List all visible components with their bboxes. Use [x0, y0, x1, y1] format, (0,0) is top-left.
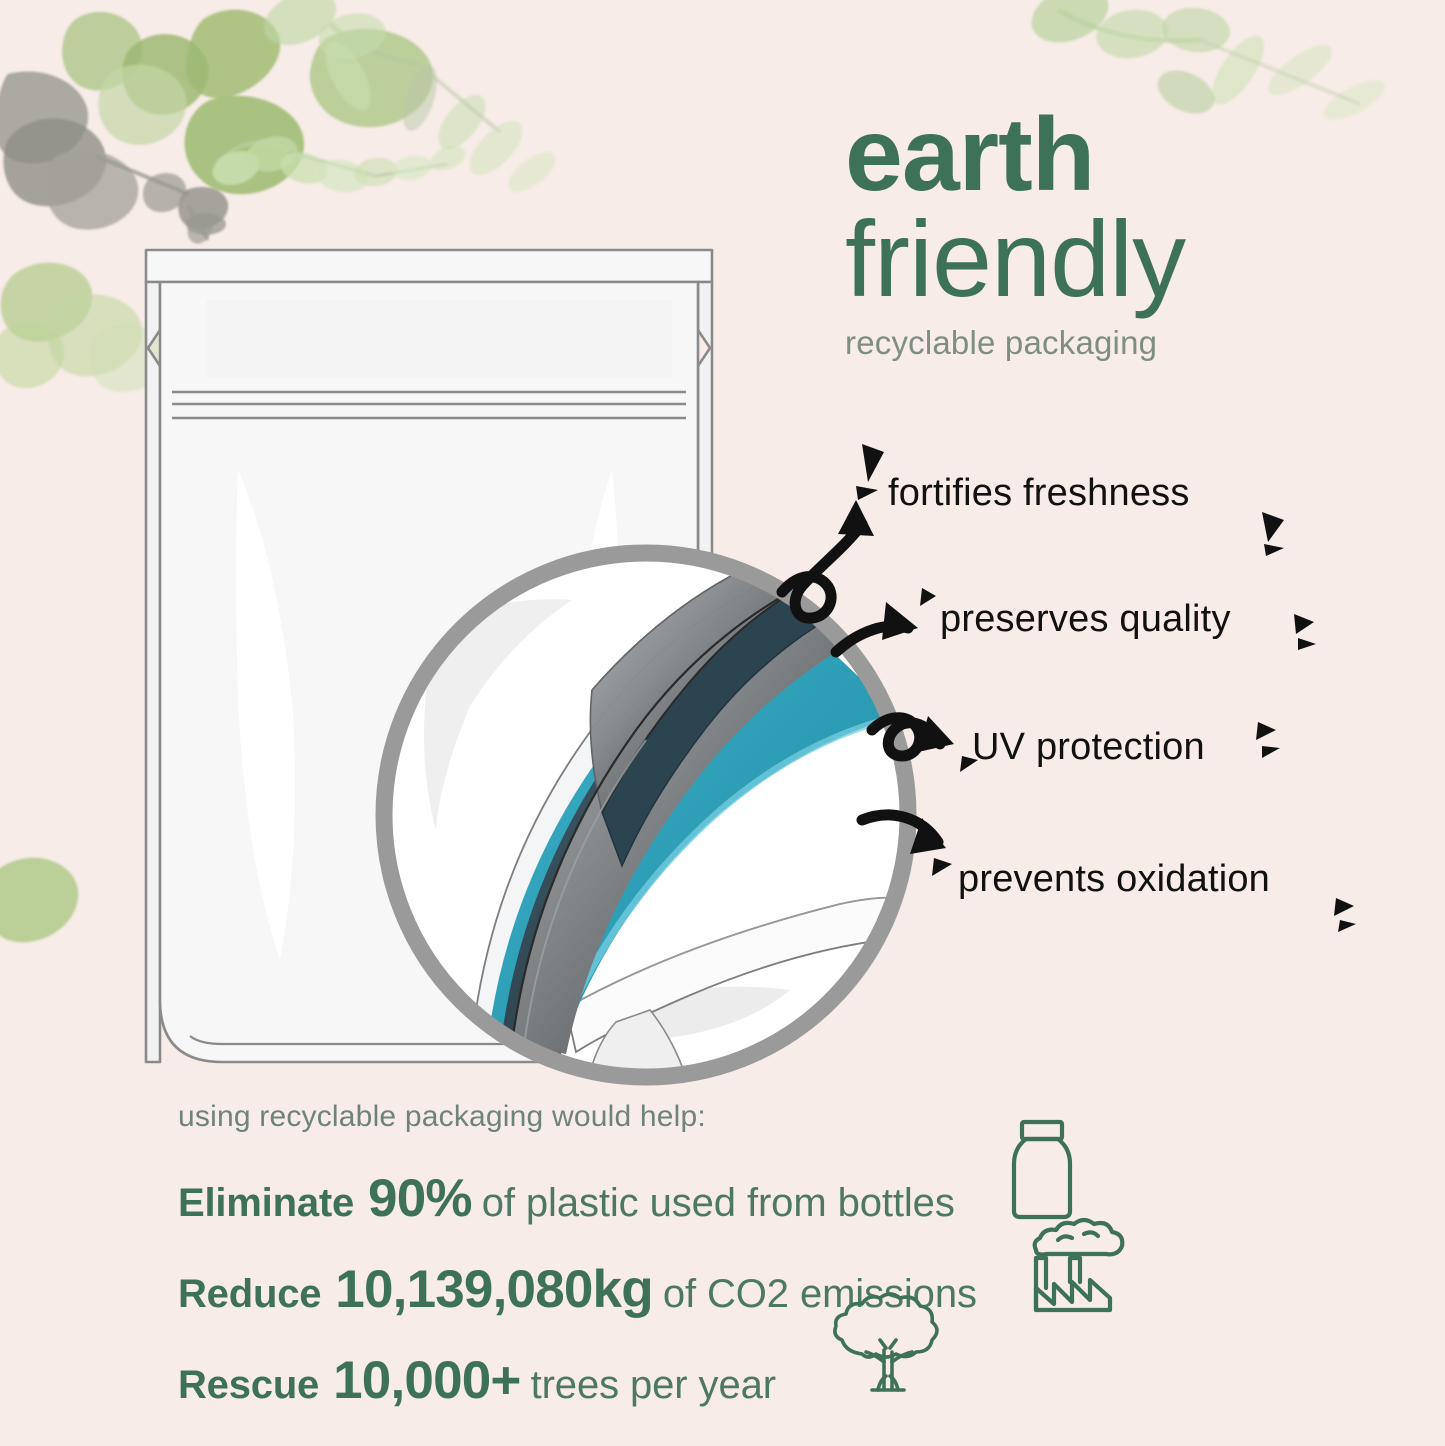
stat-row-rescue: Rescue 10,000+ trees per year: [178, 1350, 1278, 1411]
stat-tail: of plastic used from bottles: [482, 1181, 955, 1226]
stat-number: 10,139,080kg: [335, 1259, 653, 1320]
headline-line-2: friendly: [845, 208, 1405, 310]
stats-lead-text: using recyclable packaging would help:: [178, 1100, 1278, 1134]
stat-verb: Rescue: [178, 1363, 319, 1408]
feature-label-prevents-oxidation: prevents oxidation: [958, 858, 1270, 901]
tree-icon: [828, 1292, 948, 1402]
stat-verb: Reduce: [178, 1272, 321, 1317]
stat-number: 10,000+: [333, 1350, 520, 1411]
headline-subtitle: recyclable packaging: [845, 325, 1405, 361]
stat-tail: trees per year: [531, 1363, 776, 1408]
headline-line-1: earth: [845, 108, 1405, 204]
feature-label-fortifies-freshness: fortifies freshness: [888, 472, 1190, 515]
infographic-canvas: earth friendly recyclable packaging fort…: [0, 0, 1445, 1446]
stat-number: 90%: [368, 1168, 472, 1229]
factory-icon: [1022, 1216, 1130, 1314]
feature-label-preserves-quality: preserves quality: [940, 598, 1231, 641]
headline-block: earth friendly recyclable packaging: [845, 108, 1405, 361]
bottle-icon: [1000, 1118, 1084, 1222]
feature-label-uv-protection: UV protection: [972, 726, 1205, 769]
stat-verb: Eliminate: [178, 1181, 354, 1226]
